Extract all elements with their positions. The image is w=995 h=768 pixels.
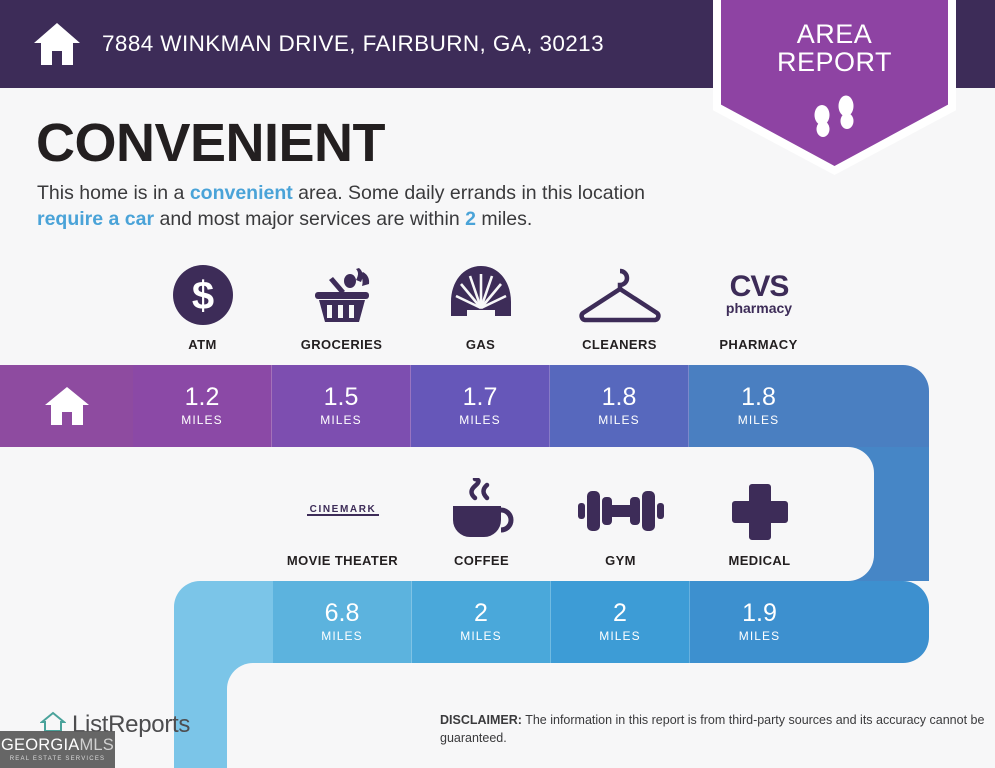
distance-value: 1.8: [741, 385, 776, 410]
distance-cell-pharmacy: 1.8 MILES: [689, 365, 828, 447]
svg-text:pharmacy: pharmacy: [725, 300, 791, 316]
distance-unit: MILES: [598, 413, 640, 427]
distance-cell-atm: 1.2 MILES: [133, 365, 272, 447]
disclaimer: DISCLAIMER: The information in this repo…: [440, 712, 985, 748]
ribbon-tail-bottom-left: [174, 581, 273, 663]
distance-bar-row-1: 1.2 MILES 1.5 MILES 1.7 MILES 1.8 MILES …: [0, 365, 828, 447]
amenity-label: GROCERIES: [301, 337, 383, 352]
distance-cell-medical: 1.9 MILES: [690, 581, 829, 663]
distance-value: 6.8: [325, 601, 360, 626]
disclaimer-text: The information in this report is from t…: [440, 713, 984, 745]
amenity-label: PHARMACY: [719, 337, 797, 352]
shell-gas-icon: [447, 262, 515, 328]
amenity-atm: $ ATM: [133, 262, 272, 352]
distance-value: 1.2: [185, 385, 220, 410]
georgia-mls-watermark: GEORGIAMLS REAL ESTATE SERVICES: [0, 731, 115, 768]
svg-text:$: $: [191, 274, 213, 318]
footprints-icon: [807, 95, 863, 146]
distance-unit: MILES: [599, 629, 641, 643]
distance-value: 1.8: [602, 385, 637, 410]
distance-unit: MILES: [320, 413, 362, 427]
distance-cell-coffee: 2 MILES: [412, 581, 551, 663]
badge-line-2: REPORT: [713, 48, 956, 76]
intro-text-3: and most major services are within: [154, 208, 465, 230]
intro-description: This home is in a convenient area. Some …: [37, 181, 697, 232]
intro-highlight-1: convenient: [190, 182, 293, 204]
distance-ribbon: 1.2 MILES 1.5 MILES 1.7 MILES 1.8 MILES …: [0, 365, 995, 665]
distance-cell-gas: 1.7 MILES: [411, 365, 550, 447]
grocery-basket-icon: [307, 262, 377, 328]
distance-cell-movie-theater: 6.8 MILES: [273, 581, 412, 663]
amenity-label: ATM: [188, 337, 216, 352]
intro-text-1: This home is in a: [37, 182, 190, 204]
watermark-georgia: GEORGIA: [1, 736, 79, 754]
dollar-circle-icon: $: [172, 262, 234, 328]
intro-highlight-2: require a car: [37, 208, 154, 230]
amenity-gas: GAS: [411, 262, 550, 352]
distance-unit: MILES: [459, 413, 501, 427]
home-marker-cell: [0, 365, 133, 447]
distance-bar-row-2: 6.8 MILES 2 MILES 2 MILES 1.9 MILES: [273, 581, 829, 663]
amenity-label: CLEANERS: [582, 337, 657, 352]
watermark-title: GEORGIAMLS: [1, 737, 114, 754]
svg-text:CVS: CVS: [729, 270, 788, 303]
intro-text-2: area. Some daily errands in this locatio…: [293, 182, 645, 204]
intro-highlight-3: 2: [465, 208, 476, 230]
distance-value: 2: [474, 601, 488, 626]
badge-line-1: AREA: [713, 20, 956, 48]
watermark-mls: MLS: [79, 736, 114, 754]
watermark-subtitle: REAL ESTATE SERVICES: [10, 756, 105, 762]
amenity-groceries: GROCERIES: [272, 262, 411, 352]
ribbon-notch-left: [227, 663, 273, 768]
distance-cell-gym: 2 MILES: [551, 581, 690, 663]
distance-unit: MILES: [321, 629, 363, 643]
amenity-pharmacy: CVS pharmacy PHARMACY: [689, 262, 828, 352]
disclaimer-label: DISCLAIMER:: [440, 713, 522, 727]
intro-text-4: miles.: [476, 208, 532, 230]
distance-cell-groceries: 1.5 MILES: [272, 365, 411, 447]
amenity-label: GAS: [466, 337, 495, 352]
amenity-cleaners: CLEANERS: [550, 262, 689, 352]
ribbon-notch-right: [828, 447, 874, 581]
property-address: 7884 WINKMAN DRIVE, FAIRBURN, GA, 30213: [102, 31, 604, 57]
area-report-page: 7884 WINKMAN DRIVE, FAIRBURN, GA, 30213 …: [0, 0, 995, 768]
distance-unit: MILES: [181, 413, 223, 427]
distance-value: 1.7: [463, 385, 498, 410]
distance-value: 1.9: [742, 601, 777, 626]
distance-value: 2: [613, 601, 627, 626]
home-icon: [43, 385, 91, 427]
distance-unit: MILES: [739, 629, 781, 643]
area-report-badge: AREA REPORT: [713, 0, 956, 175]
badge-label: AREA REPORT: [713, 20, 956, 77]
ribbon-tail-bottom-right: [828, 581, 929, 663]
cvs-pharmacy-icon: CVS pharmacy: [710, 262, 808, 328]
page-title: CONVENIENT: [36, 112, 385, 174]
distance-unit: MILES: [738, 413, 780, 427]
home-icon: [32, 21, 82, 67]
distance-cell-cleaners: 1.8 MILES: [550, 365, 689, 447]
amenity-icon-row-1: $ ATM: [133, 262, 828, 352]
distance-value: 1.5: [324, 385, 359, 410]
distance-unit: MILES: [460, 629, 502, 643]
ribbon-tail-top-right: [828, 365, 929, 447]
clothes-hanger-icon: [577, 262, 663, 328]
